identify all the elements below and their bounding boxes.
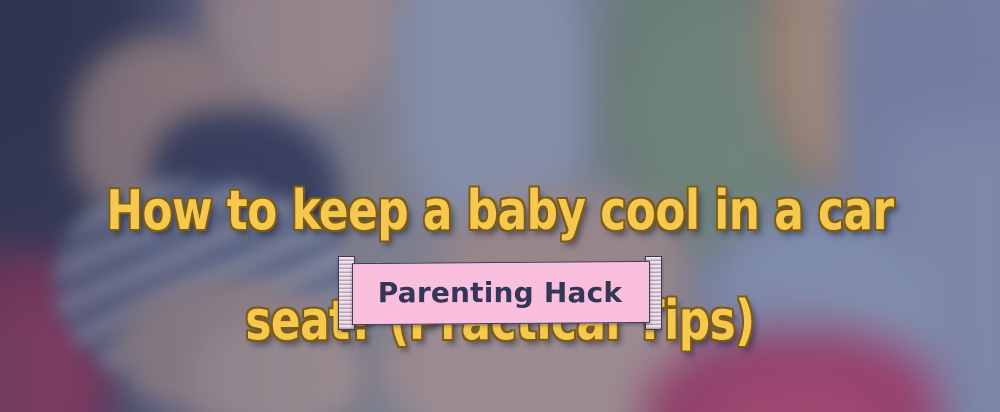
category-badge-label: Parenting Hack (352, 262, 648, 322)
hero-banner: How to keep a baby cool in a car seat? (… (0, 0, 1000, 412)
banner-title-line-1: How to keep a baby cool in a car (50, 183, 950, 238)
category-badge: Parenting Hack (338, 256, 662, 328)
